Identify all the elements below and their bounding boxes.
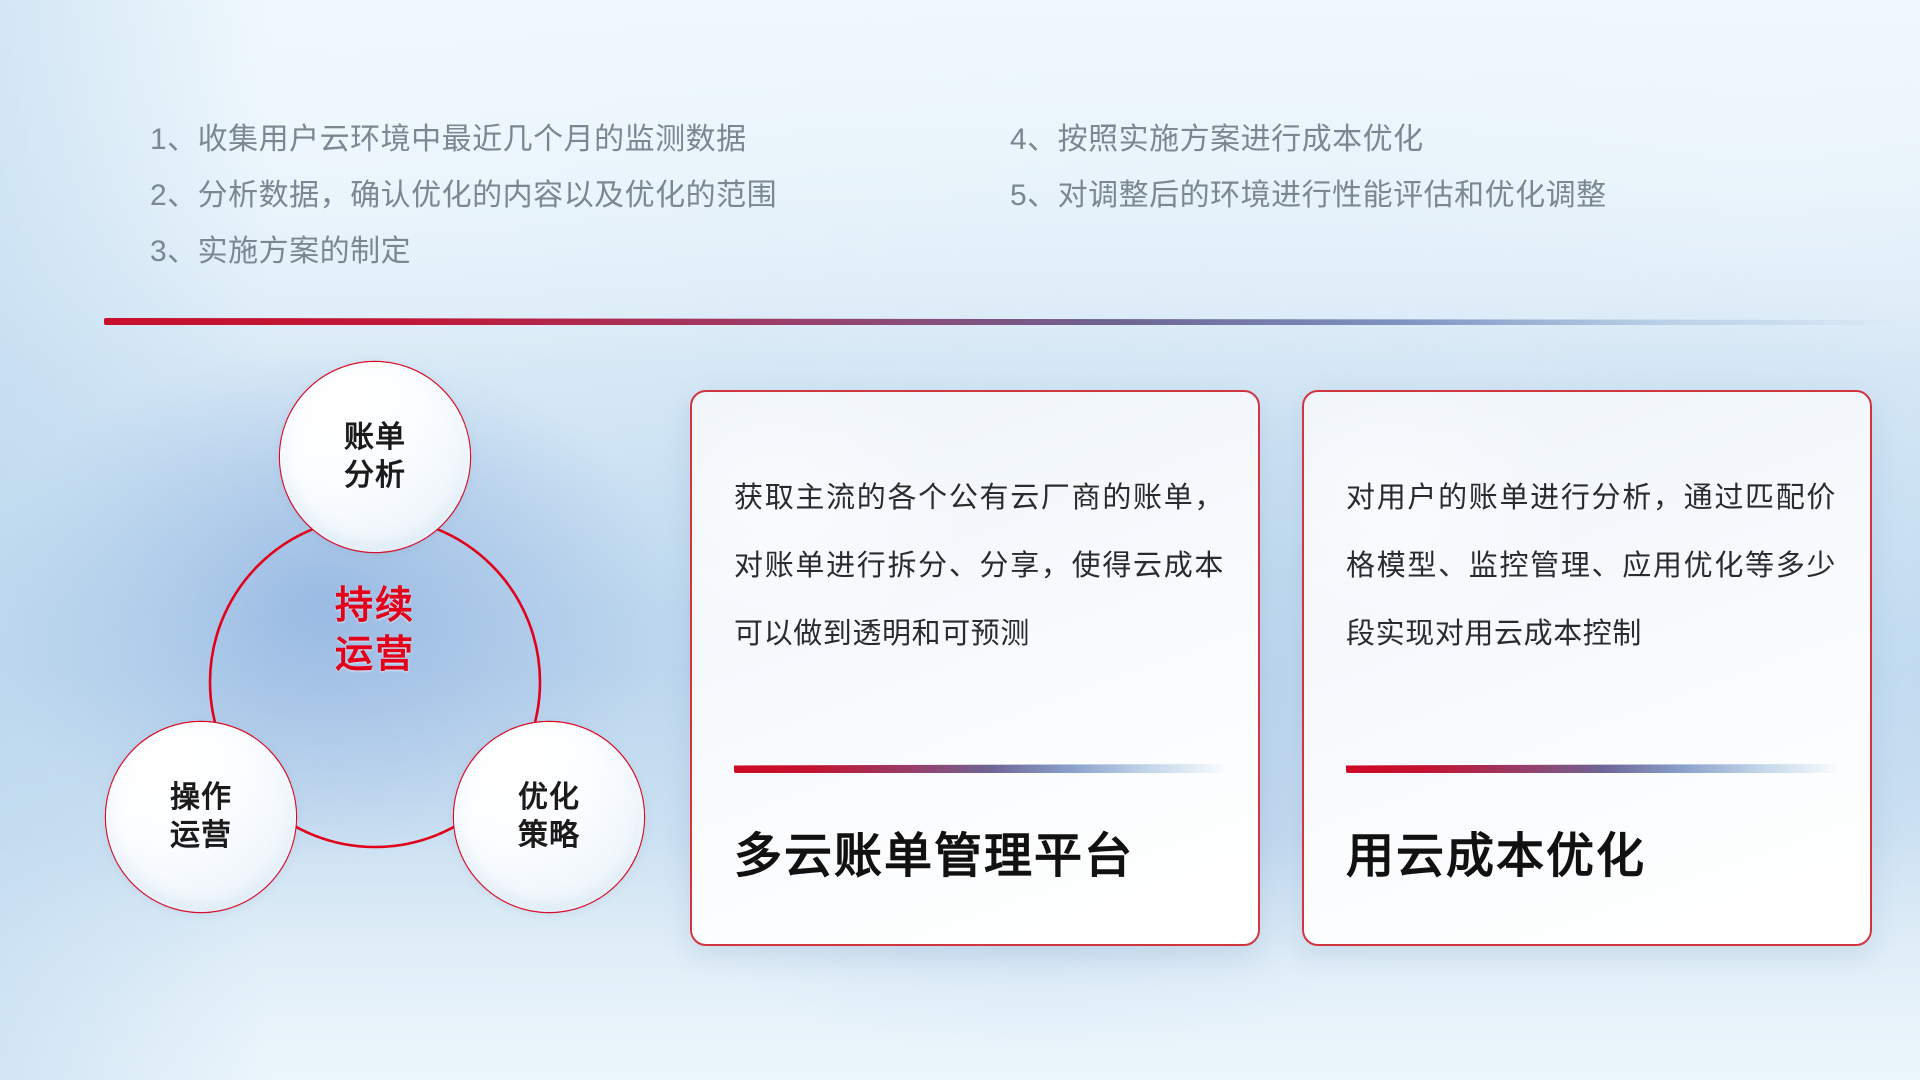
venn-bubble-bill-analysis[interactable]: 账单 分析 [280, 362, 470, 552]
venn-bubble-line-1: 优化 [518, 779, 580, 817]
card-cloud-cost-optimization[interactable]: 对用户的账单进行分析，通过匹配价格模型、监控管理、应用优化等多少段实现对用云成本… [1302, 390, 1872, 946]
step-item-5: 5、对调整后的环境进行性能评估和优化调整 [1010, 168, 1607, 224]
venn-center-label: 持续 运营 [280, 582, 470, 679]
card-title: 多云账单管理平台 [734, 828, 1224, 886]
card-multi-cloud-billing-platform[interactable]: 获取主流的各个公有云厂商的账单，对账单进行拆分、分享，使得云成本可以做到透明和可… [690, 390, 1260, 946]
venn-center-line-1: 持续 [280, 582, 470, 631]
steps-column-left: 1、收集用户云环境中最近几个月的监测数据 2、分析数据，确认优化的内容以及优化的… [150, 112, 777, 280]
card-body-text: 对用户的账单进行分析，通过匹配价格模型、监控管理、应用优化等多少段实现对用云成本… [1346, 464, 1836, 668]
step-item-1: 1、收集用户云环境中最近几个月的监测数据 [150, 112, 777, 168]
venn-bubble-label-optimization-strategy: 优化 策略 [518, 779, 580, 856]
card-body-text: 获取主流的各个公有云厂商的账单，对账单进行拆分、分享，使得云成本可以做到透明和可… [734, 464, 1224, 668]
venn-bubble-operation[interactable]: 操作 运营 [106, 722, 296, 912]
steps-column-right: 4、按照实施方案进行成本优化 5、对调整后的环境进行性能评估和优化调整 [1010, 112, 1607, 224]
venn-bubble-label-operation: 操作 运营 [170, 779, 232, 856]
venn-diagram: 账单 分析 操作 运营 优化 策略 持续 运营 [96, 352, 656, 952]
step-item-2: 2、分析数据，确认优化的内容以及优化的范围 [150, 168, 777, 224]
step-item-3: 3、实施方案的制定 [150, 224, 777, 280]
card-divider-rule [1346, 764, 1840, 773]
venn-bubble-line-2: 运营 [170, 817, 232, 855]
venn-bubble-line-2: 策略 [518, 817, 580, 855]
venn-bubble-label-bill-analysis: 账单 分析 [344, 419, 406, 496]
venn-center-line-2: 运营 [280, 631, 470, 680]
card-title: 用云成本优化 [1346, 828, 1836, 886]
card-divider-rule [734, 764, 1228, 773]
steps-section: 1、收集用户云环境中最近几个月的监测数据 2、分析数据，确认优化的内容以及优化的… [0, 112, 1920, 312]
step-item-4: 4、按照实施方案进行成本优化 [1010, 112, 1607, 168]
venn-bubble-line-2: 分析 [344, 457, 406, 495]
slide-canvas: 1、收集用户云环境中最近几个月的监测数据 2、分析数据，确认优化的内容以及优化的… [0, 0, 1920, 1080]
venn-bubble-optimization-strategy[interactable]: 优化 策略 [454, 722, 644, 912]
venn-bubble-line-1: 操作 [170, 779, 232, 817]
venn-bubble-line-1: 账单 [344, 419, 406, 457]
